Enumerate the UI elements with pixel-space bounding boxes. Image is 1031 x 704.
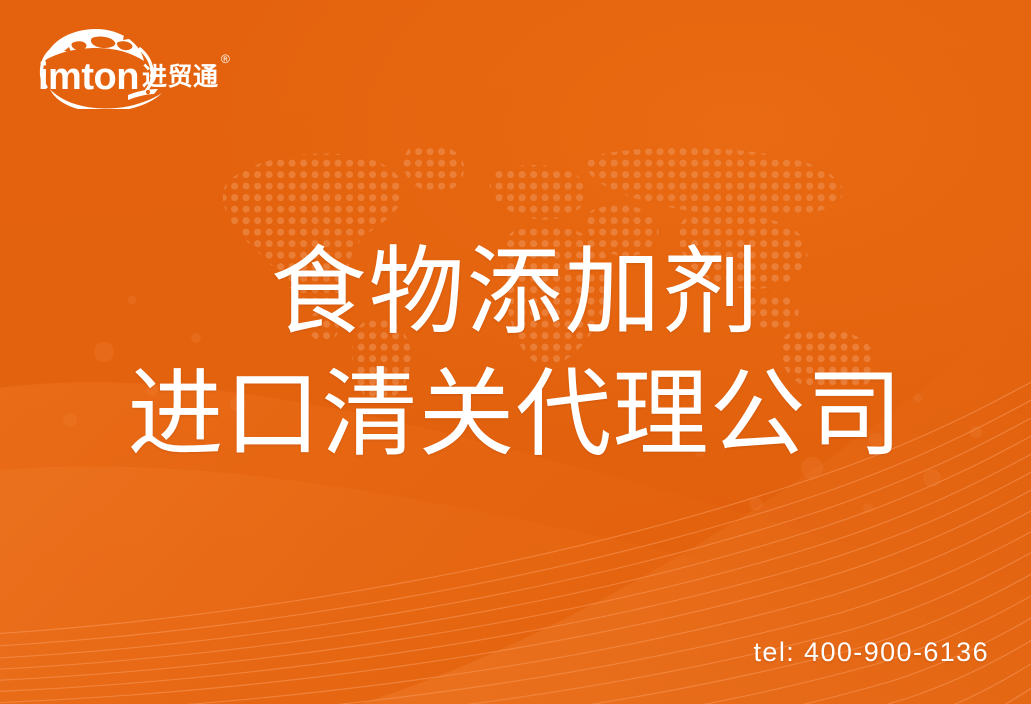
- headline-line-2: 进口清关代理公司: [0, 354, 1031, 476]
- company-logo[interactable]: imton 进贸通 ®: [36, 27, 241, 109]
- promo-banner: imton 进贸通 ® 食物添加剂 进口清关代理公司 tel: 400-900-…: [0, 0, 1031, 704]
- telephone-number: tel: 400-900-6136: [754, 636, 989, 668]
- headline-line-1: 食物添加剂: [0, 232, 1031, 354]
- headline: 食物添加剂 进口清关代理公司: [0, 232, 1031, 476]
- registered-trademark-icon: ®: [221, 52, 230, 66]
- logo-chinese-name: 进贸通: [142, 62, 219, 91]
- logo-wordmark: imton: [38, 56, 139, 98]
